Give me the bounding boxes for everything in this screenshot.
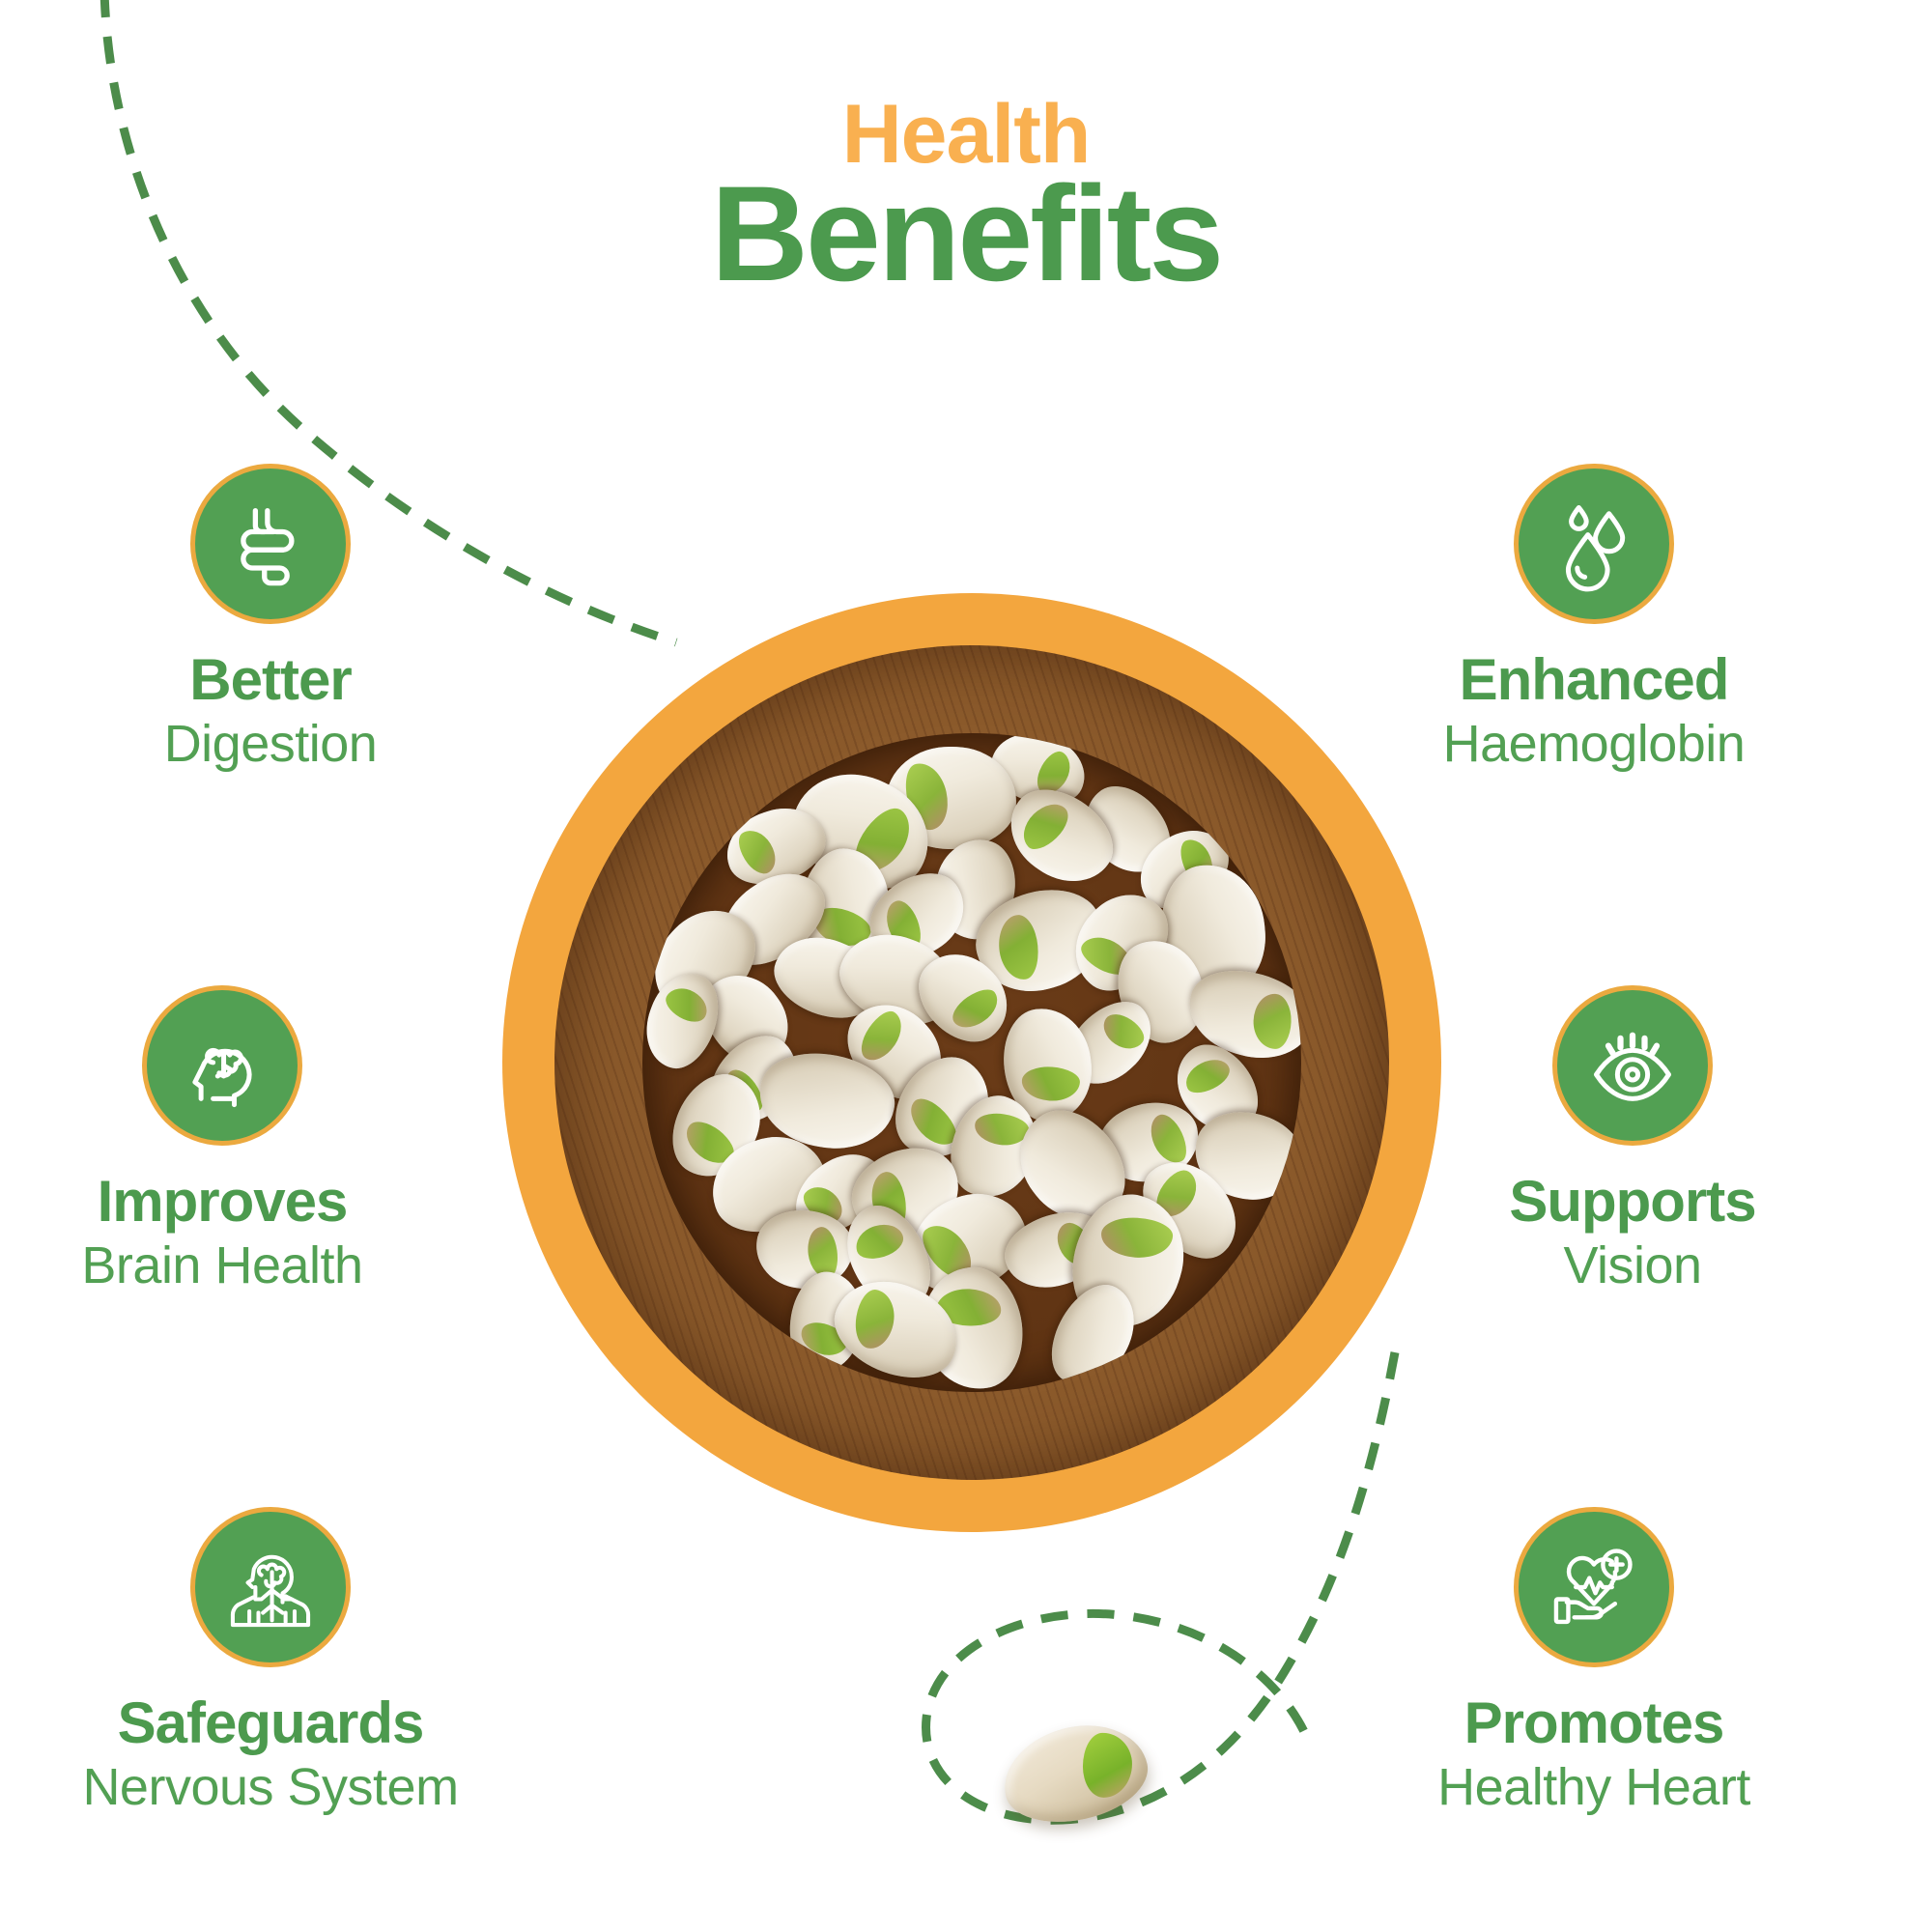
benefit-subtitle: Brain Health: [0, 1237, 473, 1294]
benefit-title: Promotes: [1343, 1692, 1845, 1753]
benefit-supports-vision[interactable]: Supports Vision: [1381, 985, 1884, 1294]
benefit-subtitle: Digestion: [19, 716, 522, 773]
benefit-enhanced-haemoglobin[interactable]: Enhanced Haemoglobin: [1343, 464, 1845, 773]
heart-in-hand-icon: [1514, 1507, 1674, 1667]
single-pistachio-accent: [985, 1700, 1169, 1845]
benefit-safeguards-nervous-system[interactable]: Safeguards Nervous System: [19, 1507, 522, 1816]
brain-head-icon: [142, 985, 302, 1146]
benefit-subtitle: Nervous System: [19, 1759, 522, 1816]
benefit-title: Safeguards: [19, 1692, 522, 1753]
benefit-improves-brain-health[interactable]: Improves Brain Health: [0, 985, 473, 1294]
bowl-photo: [554, 645, 1389, 1480]
blood-drops-icon: [1514, 464, 1674, 624]
benefit-title: Better: [19, 649, 522, 710]
page-title: Health Benefits: [0, 93, 1932, 301]
single-pistachio: [995, 1713, 1156, 1833]
infographic-canvas: Health Benefits Better Digestion: [0, 0, 1932, 1932]
nervous-system-icon: [190, 1507, 351, 1667]
eye-icon: [1552, 985, 1713, 1146]
benefit-title: Improves: [0, 1171, 473, 1232]
benefit-title: Enhanced: [1343, 649, 1845, 710]
pistachio-pile: [642, 733, 1302, 1393]
benefit-title: Supports: [1381, 1171, 1884, 1232]
benefit-subtitle: Healthy Heart: [1343, 1759, 1845, 1816]
benefit-promotes-healthy-heart[interactable]: Promotes Healthy Heart: [1343, 1507, 1845, 1816]
benefit-subtitle: Vision: [1381, 1237, 1884, 1294]
pistachio-bowl-image: [502, 593, 1441, 1532]
intestine-icon: [190, 464, 351, 624]
benefit-subtitle: Haemoglobin: [1343, 716, 1845, 773]
title-line-benefits: Benefits: [0, 166, 1932, 301]
benefit-better-digestion[interactable]: Better Digestion: [19, 464, 522, 773]
